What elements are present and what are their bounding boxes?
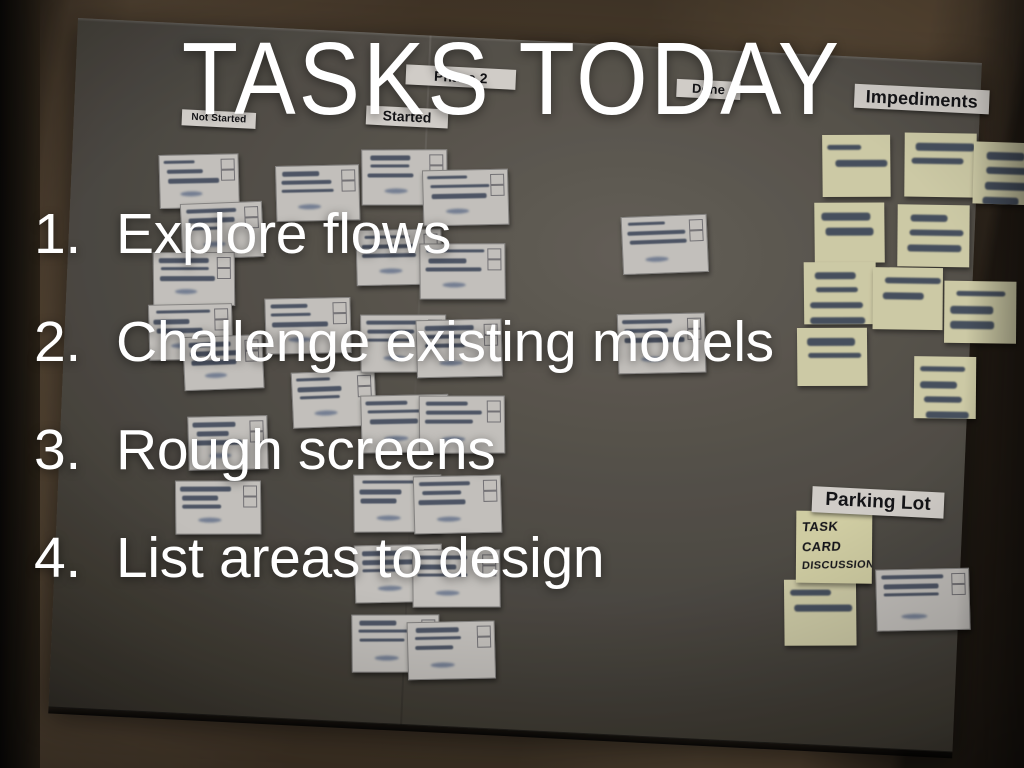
task-list-item: 3.Rough screens — [34, 422, 984, 530]
task-label: Rough screens — [116, 422, 984, 479]
slide-text-overlay: TASKS TODAY 1.Explore flows2.Challenge e… — [0, 0, 1024, 768]
task-label: List areas to design — [116, 530, 984, 587]
task-list-item: 4.List areas to design — [34, 530, 984, 638]
task-label: Challenge existing models — [116, 314, 984, 371]
task-list: 1.Explore flows2.Challenge existing mode… — [34, 206, 984, 638]
task-number: 3. — [34, 422, 116, 479]
task-list-item: 2.Challenge existing models — [34, 314, 984, 422]
task-number: 2. — [34, 314, 116, 371]
page-title: TASKS TODAY — [0, 28, 1024, 131]
task-label: Explore flows — [116, 206, 984, 263]
task-number: 4. — [34, 530, 116, 587]
presentation-slide: TASKCARDDISCUSSION Not StartedPhase 2Sta… — [0, 0, 1024, 768]
task-number: 1. — [34, 206, 116, 263]
task-list-item: 1.Explore flows — [34, 206, 984, 314]
